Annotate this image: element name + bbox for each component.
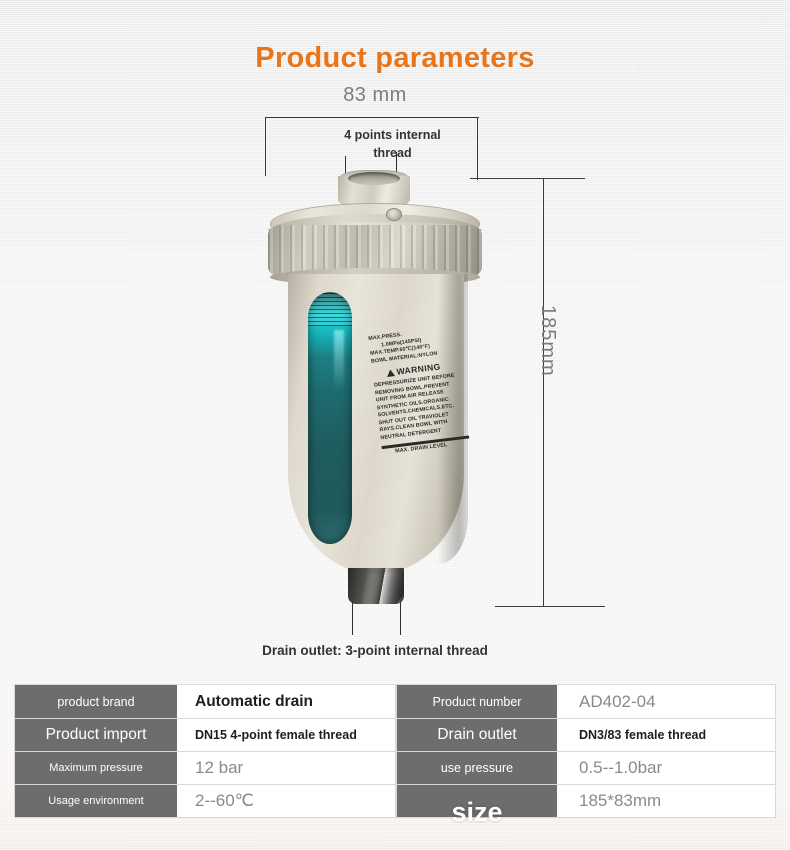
sight-glass-ribs — [308, 292, 352, 326]
spec-value-product-brand: Automatic drain — [177, 685, 395, 718]
drain-outlet-callout: Drain outlet: 3-point internal thread — [225, 643, 525, 658]
spec-value-maximum-pressure: 12 bar — [177, 752, 395, 784]
spec-value-product-import: DN15 4-point female thread — [177, 719, 395, 751]
drain-callout-leader-left — [352, 601, 353, 635]
thread-callout-line2: thread — [373, 146, 411, 160]
product-warning-label: MAX.PRESS. 1.0MPa(145PSI) MAX.TEMP.60℃(1… — [368, 325, 474, 458]
spec-table-left: product brand Automatic drain Product im… — [14, 684, 396, 818]
height-dimension-label: 185mm — [536, 305, 559, 377]
height-dimension-bottom-extension — [495, 606, 605, 607]
height-dimension-line — [543, 178, 544, 606]
spec-label-size: size — [397, 785, 557, 817]
sight-glass-window — [308, 292, 352, 544]
spec-label-drain-outlet: Drain outlet — [397, 719, 557, 751]
spec-value-size: 185*83mm — [557, 785, 775, 817]
spec-label-maximum-pressure: Maximum pressure — [15, 752, 177, 784]
spec-label-product-number: Product number — [397, 685, 557, 718]
spec-label-product-import: Product import — [15, 719, 177, 751]
product-illustration: MAX.PRESS. 1.0MPa(145PSI) MAX.TEMP.60℃(1… — [262, 170, 492, 610]
warning-triangle-icon — [386, 369, 395, 377]
table-row: Drain outlet DN3/83 female thread — [397, 718, 775, 751]
drain-callout-leader-right — [400, 601, 401, 635]
inlet-thread-bore — [348, 172, 400, 185]
table-row: use pressure 0.5--1.0bar — [397, 751, 775, 784]
spec-label-size-text: size — [451, 797, 502, 828]
drain-outlet-hex — [348, 568, 404, 604]
thread-callout: 4 points internal thread — [320, 126, 465, 162]
spec-table-right: Product number AD402-04 Drain outlet DN3… — [396, 684, 776, 818]
spec-label-use-pressure: use pressure — [397, 752, 557, 784]
table-row: Product import DN15 4-point female threa… — [15, 718, 395, 751]
spec-value-drain-outlet: DN3/83 female thread — [557, 719, 775, 751]
table-row: size 185*83mm — [397, 784, 775, 817]
lid-screw — [386, 208, 402, 221]
page-title: Product parameters — [0, 42, 790, 75]
spec-label-usage-environment: Usage environment — [15, 785, 177, 817]
width-dimension-line — [265, 117, 479, 118]
spec-value-use-pressure: 0.5--1.0bar — [557, 752, 775, 784]
table-row: Maximum pressure 12 bar — [15, 751, 395, 784]
table-row: Usage environment 2--60℃ — [15, 784, 395, 817]
spec-value-usage-environment: 2--60℃ — [177, 785, 395, 817]
sight-glass-glare — [334, 330, 344, 390]
spec-value-product-number: AD402-04 — [557, 685, 775, 718]
width-dimension-label: 83 mm — [300, 84, 450, 107]
table-row: Product number AD402-04 — [397, 685, 775, 718]
thread-callout-line1: 4 points internal — [344, 128, 441, 142]
spec-label-product-brand: product brand — [15, 685, 177, 718]
table-row: product brand Automatic drain — [15, 685, 395, 718]
